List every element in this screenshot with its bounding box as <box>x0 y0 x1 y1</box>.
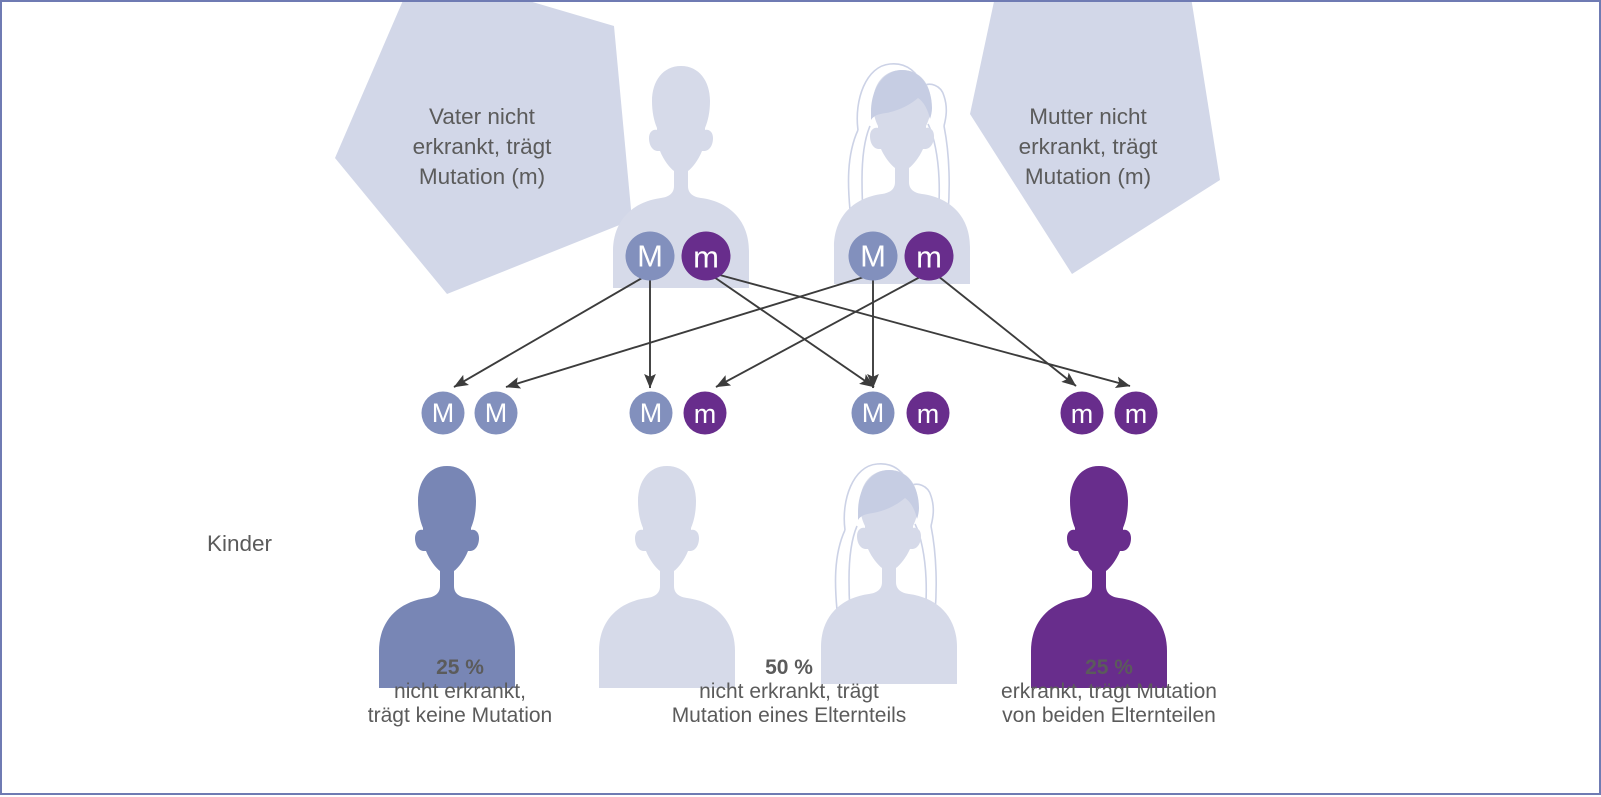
child3-allele-2-label: m <box>917 399 940 429</box>
child2-allele-1-label: M <box>640 398 663 428</box>
outcome-2-line1: nicht erkrankt, trägt <box>647 680 931 704</box>
arrow-fatherm-to-child4 <box>716 274 1130 386</box>
outcome-2-percent: 50 % <box>647 656 931 680</box>
child4-allele-1-label: m <box>1071 399 1094 429</box>
diagram-frame: M m M m M M M m <box>0 0 1601 795</box>
child3-figure <box>821 464 957 684</box>
inheritance-arrows <box>454 274 1130 388</box>
arrow-motherm-to-child4 <box>938 276 1076 386</box>
child1-allele-2-label: M <box>485 398 508 428</box>
outcome-3-percent: 25 % <box>967 656 1251 680</box>
arrow-motherm-to-child3 <box>716 277 920 387</box>
mother-allele-M-label: M <box>860 239 886 274</box>
outcome-1-line2: trägt keine Mutation <box>335 704 585 728</box>
arrow-fatherm-to-child3 <box>714 277 874 387</box>
child1-allele-1-label: M <box>432 398 455 428</box>
child2-allele-2-label: m <box>694 399 717 429</box>
father-allele-M[interactable]: M <box>626 232 675 281</box>
child4-allele-2-label: m <box>1125 399 1148 429</box>
father-allele-M-label: M <box>637 239 663 274</box>
child3-allele-1[interactable]: M <box>852 392 895 435</box>
mother-allele-m-label: m <box>916 240 942 275</box>
child1-allele-2[interactable]: M <box>475 392 518 435</box>
outcome-1-line1: nicht erkrankt, <box>335 680 585 704</box>
outcome-3: 25 % erkrankt, trägt Mutation von beiden… <box>967 656 1251 728</box>
outcome-3-line1: erkrankt, trägt Mutation <box>967 680 1251 704</box>
mother-allele-m[interactable]: m <box>905 232 954 281</box>
mother-allele-M[interactable]: M <box>849 232 898 281</box>
child4-allele-1[interactable]: m <box>1061 392 1104 435</box>
mother-callout-shape <box>970 2 1220 274</box>
child1-figure <box>379 466 515 688</box>
outcome-2: 50 % nicht erkrankt, trägt Mutation eine… <box>647 656 931 728</box>
father-allele-m[interactable]: m <box>682 232 731 281</box>
outcome-3-line2: von beiden Elternteilen <box>967 704 1251 728</box>
arrow-motherM-to-child1 <box>506 277 864 387</box>
child4-figure <box>1031 466 1167 688</box>
child3-allele-2[interactable]: m <box>907 392 950 435</box>
outcome-1-percent: 25 % <box>335 656 585 680</box>
child3-allele-1-label: M <box>862 398 885 428</box>
child1-allele-1[interactable]: M <box>422 392 465 435</box>
child2-allele-1[interactable]: M <box>630 392 673 435</box>
outcome-1: 25 % nicht erkrankt, trägt keine Mutatio… <box>335 656 585 728</box>
arrow-fatherM-to-child1 <box>454 278 642 387</box>
outcome-2-line2: Mutation eines Elternteils <box>647 704 931 728</box>
child4-allele-2[interactable]: m <box>1115 392 1158 435</box>
father-allele-m-label: m <box>693 240 719 275</box>
child2-figure <box>599 466 735 688</box>
father-callout-shape <box>335 2 632 294</box>
child2-allele-2[interactable]: m <box>684 392 727 435</box>
